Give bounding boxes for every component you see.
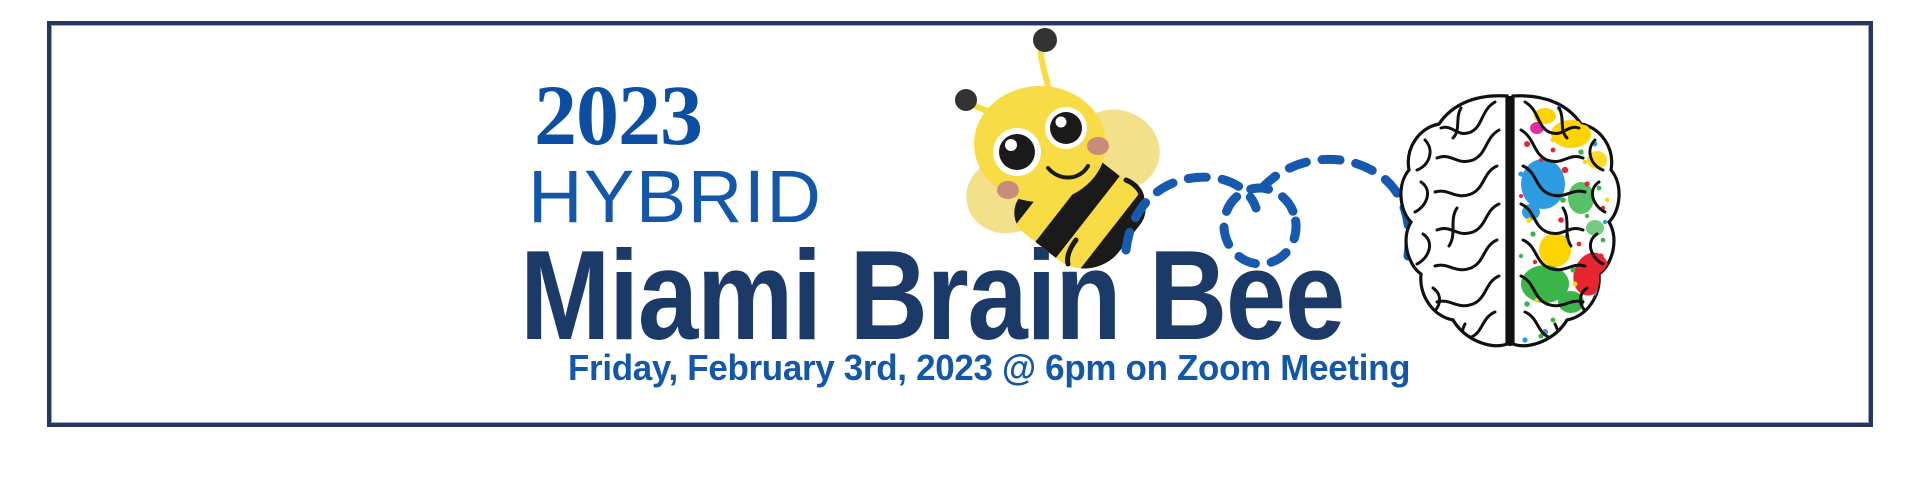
event-datetime-subtitle: Friday, February 3rd, 2023 @ 6pm on Zoom… bbox=[568, 350, 1410, 386]
event-banner: 2023 HYBRID Miami Brain Bee Friday, Febr… bbox=[0, 0, 1920, 480]
year-text: 2023 bbox=[534, 72, 702, 158]
format-text-hybrid: HYBRID bbox=[528, 160, 822, 234]
brain-left-hemisphere bbox=[1401, 96, 1507, 346]
brain-illustration bbox=[1395, 88, 1625, 358]
brain-right-hemisphere bbox=[1513, 96, 1619, 346]
brain-icon bbox=[1395, 88, 1625, 358]
